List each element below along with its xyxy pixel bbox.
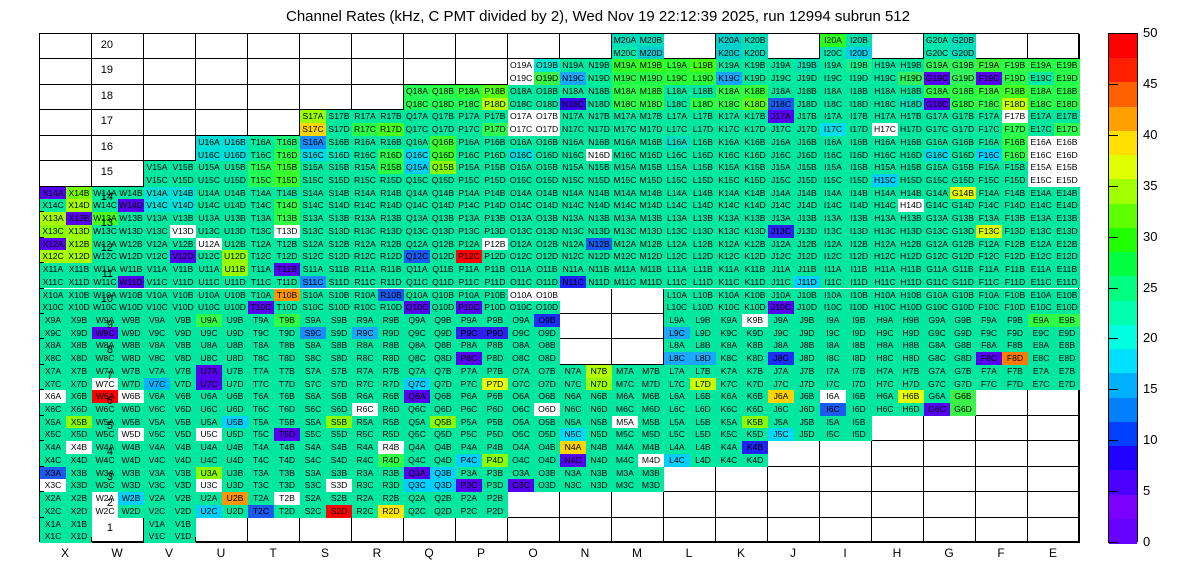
heatmap-quadrant: K12B	[742, 238, 768, 251]
heatmap-cell: E8AE8BE8CE8D	[1028, 339, 1080, 364]
heatmap-cell	[404, 518, 456, 543]
heatmap-quadrant: P18D	[482, 98, 508, 111]
heatmap-quadrant: Q9B	[430, 314, 456, 327]
heatmap-quadrant: S11D	[326, 276, 352, 289]
heatmap-quadrant: E19A	[1028, 59, 1054, 72]
heatmap-quadrant: E11B	[1054, 263, 1080, 276]
heatmap-quadrant: Q3C	[404, 479, 430, 492]
heatmap-quadrant: K17D	[742, 123, 768, 136]
heatmap-quadrant: I5A	[820, 416, 846, 429]
y-axis-tick	[39, 338, 44, 339]
heatmap-quadrant: M6C	[612, 403, 638, 416]
heatmap-quadrant: K18D	[742, 98, 768, 111]
heatmap-quadrant: K18A	[716, 85, 742, 98]
heatmap-cell	[1028, 518, 1080, 543]
heatmap-cell: X12AX12BX12CX12D	[40, 238, 92, 263]
heatmap-quadrant: I14C	[820, 199, 846, 212]
heatmap-quadrant: M20A	[612, 34, 638, 47]
x-axis-tick	[507, 537, 508, 542]
heatmap-quadrant: H8D	[898, 352, 924, 365]
heatmap-quadrant: I12A	[820, 238, 846, 251]
heatmap-quadrant: P8B	[482, 339, 508, 352]
x-axis-tick	[195, 537, 196, 542]
heatmap-quadrant: P13B	[482, 212, 508, 225]
heatmap-quadrant: O15A	[508, 161, 534, 174]
heatmap-quadrant: E11A	[1028, 263, 1054, 276]
colorbar-segment	[1109, 373, 1137, 398]
heatmap-quadrant: O12A	[508, 238, 534, 251]
heatmap-quadrant: M3C	[612, 479, 638, 492]
heatmap-quadrant: R10B	[378, 289, 404, 302]
heatmap-quadrant: I9C	[820, 327, 846, 340]
heatmap-cell: F19AF19BF19CF19D	[976, 59, 1028, 84]
heatmap-quadrant: U15B	[222, 161, 248, 174]
heatmap-quadrant: F19D	[1002, 72, 1028, 85]
heatmap-quadrant: R9B	[378, 314, 404, 327]
heatmap-quadrant: I9D	[846, 327, 872, 340]
heatmap-quadrant: K18C	[716, 98, 742, 111]
heatmap-quadrant: J17B	[794, 110, 820, 123]
heatmap-quadrant: N16A	[560, 136, 586, 149]
heatmap-quadrant: V5D	[170, 428, 196, 441]
heatmap-cell: L16AL16BL16CL16D	[664, 136, 716, 161]
heatmap-quadrant: S7C	[300, 378, 326, 391]
heatmap-quadrant: R8A	[352, 339, 378, 352]
heatmap-quadrant: M7C	[612, 378, 638, 391]
heatmap-cell: I12AI12BI12CI12D	[820, 238, 872, 263]
heatmap-quadrant: R14B	[378, 187, 404, 200]
heatmap-quadrant: J18D	[794, 98, 820, 111]
colorbar-tick	[1108, 186, 1118, 187]
heatmap-quadrant: V12C	[144, 250, 170, 263]
colorbar-segment	[1109, 252, 1137, 277]
heatmap-quadrant: I14A	[820, 187, 846, 200]
heatmap-quadrant: V15A	[144, 161, 170, 174]
heatmap-quadrant: Q18A	[404, 85, 430, 98]
heatmap-quadrant: K14C	[716, 199, 742, 212]
heatmap-quadrant: F12B	[1002, 238, 1028, 251]
heatmap-quadrant: E17D	[1054, 123, 1080, 136]
heatmap-quadrant: N12B	[586, 238, 612, 251]
heatmap-quadrant: O9A	[508, 314, 534, 327]
heatmap-quadrant: I19B	[846, 59, 872, 72]
heatmap-quadrant: S12C	[300, 250, 326, 263]
heatmap-quadrant: S5D	[326, 428, 352, 441]
x-axis-tick	[455, 537, 456, 542]
colorbar-segment	[1109, 34, 1137, 59]
heatmap-quadrant: I11A	[820, 263, 846, 276]
heatmap-quadrant: P6B	[482, 390, 508, 403]
heatmap-quadrant: E12B	[1054, 238, 1080, 251]
heatmap-cell: H6AH6BH6CH6D	[872, 390, 924, 415]
heatmap-quadrant: Q18B	[430, 85, 456, 98]
heatmap-quadrant: N17D	[586, 123, 612, 136]
heatmap-quadrant: O9D	[534, 327, 560, 340]
heatmap-quadrant: S8A	[300, 339, 326, 352]
heatmap-quadrant: L12A	[664, 238, 690, 251]
heatmap-quadrant: T12D	[274, 250, 300, 263]
heatmap-quadrant: R3C	[352, 479, 378, 492]
heatmap-cell	[612, 314, 664, 339]
heatmap-quadrant: E13C	[1028, 225, 1054, 238]
heatmap-quadrant: H13A	[872, 212, 898, 225]
heatmap-quadrant: Q5C	[404, 428, 430, 441]
heatmap-quadrant: S17C	[300, 123, 326, 136]
heatmap-quadrant: Q6C	[404, 403, 430, 416]
heatmap-quadrant: K8B	[742, 339, 768, 352]
heatmap-cell: N17AN17BN17CN17D	[560, 110, 612, 135]
heatmap-quadrant: T12B	[274, 238, 300, 251]
heatmap-cell: G11AG11BG11CG11D	[924, 263, 976, 288]
heatmap-quadrant: X7A	[40, 365, 66, 378]
heatmap-quadrant: J14A	[768, 187, 794, 200]
heatmap-quadrant: I7D	[846, 378, 872, 391]
heatmap-quadrant: Q18D	[430, 98, 456, 111]
heatmap-quadrant: N11D	[586, 276, 612, 289]
heatmap-cell: E19AE19BE19CE19D	[1028, 59, 1080, 84]
heatmap-quadrant: S12B	[326, 238, 352, 251]
heatmap-cell: K6AK6BK6CK6D	[716, 390, 768, 415]
heatmap-quadrant: P18A	[456, 85, 482, 98]
heatmap-quadrant: Q13D	[430, 225, 456, 238]
x-axis-tick	[91, 537, 92, 542]
heatmap-cell: J13AJ13BJ13CJ13D	[768, 212, 820, 237]
heatmap-quadrant: I6B	[846, 390, 872, 403]
heatmap-cell: T12AT12BT12CT12D	[248, 238, 300, 263]
heatmap-quadrant: Q11C	[404, 276, 430, 289]
heatmap-quadrant: V14B	[170, 187, 196, 200]
heatmap-quadrant: L13D	[690, 225, 716, 238]
heatmap-quadrant: H17D	[898, 123, 924, 136]
heatmap-quadrant: U8A	[196, 339, 222, 352]
heatmap-quadrant: I8C	[820, 352, 846, 365]
heatmap-quadrant: K9A	[716, 314, 742, 327]
colorbar-tick	[1108, 440, 1118, 441]
heatmap-quadrant: E14A	[1028, 187, 1054, 200]
heatmap-quadrant: Q8A	[404, 339, 430, 352]
heatmap-quadrant: N4C	[560, 454, 586, 467]
y-axis-label: 18	[87, 90, 113, 102]
heatmap-quadrant: N14D	[586, 199, 612, 212]
heatmap-cell: M7AM7BM7CM7D	[612, 365, 664, 390]
heatmap-quadrant: S3B	[326, 467, 352, 480]
heatmap-quadrant: O10A	[508, 289, 534, 302]
heatmap-quadrant: O8C	[508, 352, 534, 365]
heatmap-quadrant: M19B	[638, 59, 664, 72]
heatmap-cell	[820, 492, 872, 517]
heatmap-quadrant: E14C	[1028, 199, 1054, 212]
heatmap-cell: L10AL10BL10CL10D	[664, 289, 716, 314]
heatmap-quadrant: L5A	[664, 416, 690, 429]
heatmap-quadrant: V5A	[144, 416, 170, 429]
heatmap-quadrant: N17C	[560, 123, 586, 136]
heatmap-quadrant: Q17C	[404, 123, 430, 136]
heatmap-quadrant: H16B	[898, 136, 924, 149]
heatmap-quadrant: O3C	[508, 479, 534, 492]
heatmap-quadrant: N17A	[560, 110, 586, 123]
heatmap-cell: I20AI20BI20CI20D	[820, 34, 872, 59]
heatmap-quadrant: I19D	[846, 72, 872, 85]
heatmap-cell: I9AI9BI9CI9D	[820, 314, 872, 339]
heatmap-quadrant: J10C	[768, 301, 794, 314]
heatmap-quadrant: X5A	[40, 416, 66, 429]
heatmap-cell: K20AK20BK20CK20D	[716, 34, 768, 59]
heatmap-quadrant: P2B	[482, 492, 508, 505]
heatmap-quadrant: V12B	[170, 238, 196, 251]
heatmap-quadrant: R11A	[352, 263, 378, 276]
heatmap-cell: V13AV13BV13CV13D	[144, 212, 196, 237]
heatmap-quadrant: X3A	[40, 467, 66, 480]
heatmap-quadrant: V13C	[144, 225, 170, 238]
heatmap-cell	[924, 441, 976, 466]
heatmap-quadrant: T8C	[248, 352, 274, 365]
heatmap-quadrant: R13A	[352, 212, 378, 225]
heatmap-quadrant: L5C	[664, 428, 690, 441]
heatmap-quadrant: H14A	[872, 187, 898, 200]
heatmap-quadrant: T9D	[274, 327, 300, 340]
heatmap-quadrant: V12D	[170, 250, 196, 263]
y-axis-tick	[39, 109, 44, 110]
heatmap-quadrant: O8B	[534, 339, 560, 352]
heatmap-quadrant: S13C	[300, 225, 326, 238]
heatmap-quadrant: J15D	[794, 174, 820, 187]
heatmap-quadrant: V9D	[170, 327, 196, 340]
heatmap-quadrant: G9C	[924, 327, 950, 340]
heatmap-cell: L6AL6BL6CL6D	[664, 390, 716, 415]
y-axis-label: 20	[87, 39, 113, 51]
heatmap-quadrant: O4B	[534, 441, 560, 454]
heatmap-quadrant: I16B	[846, 136, 872, 149]
y-axis-label: 4	[87, 446, 113, 458]
heatmap-quadrant: Q14C	[404, 199, 430, 212]
heatmap-quadrant: R3B	[378, 467, 404, 480]
heatmap-quadrant: R8D	[378, 352, 404, 365]
heatmap-cell: F11AF11BF11CF11D	[976, 263, 1028, 288]
heatmap-quadrant: O5A	[508, 416, 534, 429]
heatmap-quadrant: G19B	[950, 59, 976, 72]
heatmap-quadrant: F18A	[976, 85, 1002, 98]
heatmap-quadrant: U13D	[222, 225, 248, 238]
heatmap-quadrant: N4D	[586, 454, 612, 467]
heatmap-quadrant: L11D	[690, 276, 716, 289]
heatmap-cell: P14AP14BP14CP14D	[456, 187, 508, 212]
heatmap-quadrant: G14C	[924, 199, 950, 212]
heatmap-cell	[716, 518, 768, 543]
heatmap-cell: V9AV9BV9CV9D	[144, 314, 196, 339]
heatmap-quadrant: L19C	[664, 72, 690, 85]
heatmap-quadrant: Q7D	[430, 378, 456, 391]
heatmap-cell: S13AS13BS13CS13D	[300, 212, 352, 237]
heatmap-quadrant: I6D	[846, 403, 872, 416]
heatmap-quadrant: O19D	[534, 72, 560, 85]
heatmap-quadrant: V2C	[144, 505, 170, 518]
heatmap-quadrant: Q7A	[404, 365, 430, 378]
heatmap-quadrant: N4B	[586, 441, 612, 454]
heatmap-cell: E18AE18BE18CE18D	[1028, 85, 1080, 110]
heatmap-quadrant: W12B	[118, 238, 144, 251]
heatmap-cell: X14AX14BX14CX14D	[40, 187, 92, 212]
heatmap-quadrant: K8A	[716, 339, 742, 352]
heatmap-cells: M20AM20BM20CM20DK20AK20BK20CK20DI20AI20B…	[40, 34, 1078, 541]
heatmap-quadrant: V6A	[144, 390, 170, 403]
heatmap-quadrant: L15A	[664, 161, 690, 174]
x-axis-label: U	[195, 546, 247, 560]
heatmap-cell: O19AO19BO19CO19D	[508, 59, 560, 84]
heatmap-cell	[352, 59, 404, 84]
heatmap-quadrant: G13D	[950, 225, 976, 238]
heatmap-quadrant: K17C	[716, 123, 742, 136]
heatmap-quadrant: G15C	[924, 174, 950, 187]
heatmap-quadrant: Q3D	[430, 479, 456, 492]
colorbar-segment	[1109, 349, 1137, 374]
heatmap-quadrant: R14A	[352, 187, 378, 200]
heatmap-quadrant: F7D	[1002, 378, 1028, 391]
heatmap-quadrant: S3C	[300, 479, 326, 492]
heatmap-quadrant: Q12B	[430, 238, 456, 251]
x-axis-label: L	[663, 546, 715, 560]
heatmap-cell	[40, 136, 92, 161]
heatmap-quadrant: I12D	[846, 250, 872, 263]
heatmap-quadrant: R16D	[378, 149, 404, 162]
heatmap-quadrant: S13D	[326, 225, 352, 238]
heatmap-quadrant: I18B	[846, 85, 872, 98]
heatmap-quadrant: F13C	[976, 225, 1002, 238]
heatmap-quadrant: H12C	[872, 250, 898, 263]
heatmap-quadrant: P14C	[456, 199, 482, 212]
heatmap-cell: M18AM18BM18CM18D	[612, 85, 664, 110]
heatmap-cell: R14AR14BR14CR14D	[352, 187, 404, 212]
heatmap-quadrant: J10B	[794, 289, 820, 302]
heatmap-quadrant: E18D	[1054, 98, 1080, 111]
heatmap-quadrant: R12D	[378, 250, 404, 263]
heatmap-quadrant: U10D	[222, 301, 248, 314]
heatmap-cell: K17AK17BK17CK17D	[716, 110, 768, 135]
heatmap-quadrant: R3D	[378, 479, 404, 492]
colorbar-tick	[1108, 389, 1118, 390]
heatmap-quadrant: N12A	[560, 238, 586, 251]
heatmap-quadrant: M17B	[638, 110, 664, 123]
heatmap-cell: N15AN15BN15CN15D	[560, 161, 612, 186]
heatmap-quadrant: N3B	[586, 467, 612, 480]
heatmap-quadrant: H14D	[898, 199, 924, 212]
heatmap-quadrant: O14B	[534, 187, 560, 200]
heatmap-quadrant: T14D	[274, 199, 300, 212]
heatmap-quadrant: M20B	[638, 34, 664, 47]
heatmap-quadrant: J18C	[768, 98, 794, 111]
heatmap-quadrant: S11C	[300, 276, 326, 289]
heatmap-quadrant: S3A	[300, 467, 326, 480]
heatmap-quadrant: I7B	[846, 365, 872, 378]
x-axis-label: V	[143, 546, 195, 560]
heatmap-quadrant: K11B	[742, 263, 768, 276]
x-axis-label: J	[767, 546, 819, 560]
heatmap-cell: X6AX6BX6CX6D	[40, 390, 92, 415]
heatmap-quadrant: E16C	[1028, 149, 1054, 162]
heatmap-cell: S5AS5BS5CS5D	[300, 416, 352, 441]
x-axis-tick	[1027, 537, 1028, 542]
heatmap-cell: N16AN16BN16CN16D	[560, 136, 612, 161]
heatmap-cell: R13AR13BR13CR13D	[352, 212, 404, 237]
heatmap-quadrant: M3D	[638, 479, 664, 492]
heatmap-quadrant: I17C	[820, 123, 846, 136]
heatmap-cell	[300, 85, 352, 110]
heatmap-quadrant: U4C	[196, 454, 222, 467]
heatmap-quadrant: F11A	[976, 263, 1002, 276]
heatmap-cell	[872, 518, 924, 543]
heatmap-cell: M11AM11BM11CM11D	[612, 263, 664, 288]
heatmap-quadrant: H6B	[898, 390, 924, 403]
heatmap-quadrant: R5C	[352, 428, 378, 441]
heatmap-quadrant: F13B	[1002, 212, 1028, 225]
y-axis-label: 2	[87, 497, 113, 509]
y-axis-tick	[39, 389, 44, 390]
heatmap-quadrant: H13D	[898, 225, 924, 238]
heatmap-cell: L13AL13BL13CL13D	[664, 212, 716, 237]
heatmap-quadrant: I12C	[820, 250, 846, 263]
heatmap-quadrant: E8C	[1028, 352, 1054, 365]
heatmap-quadrant: H9A	[872, 314, 898, 327]
heatmap-quadrant: O12C	[508, 250, 534, 263]
heatmap-quadrant: O9B	[534, 314, 560, 327]
heatmap-cell: X13AX13BX13CX13D	[40, 212, 92, 237]
heatmap-quadrant: P12B	[482, 238, 508, 251]
y-axis-label: 19	[87, 64, 113, 76]
heatmap-cell: G14AG14BG14CG14D	[924, 187, 976, 212]
heatmap-cell	[352, 85, 404, 110]
heatmap-cell: P16AP16BP16CP16D	[456, 136, 508, 161]
heatmap-quadrant: I18A	[820, 85, 846, 98]
heatmap-quadrant: F18B	[1002, 85, 1028, 98]
heatmap-quadrant: M4D	[638, 454, 664, 467]
y-axis-label: 14	[87, 191, 113, 203]
heatmap-cell: K8AK8BK8CK8D	[716, 339, 768, 364]
heatmap-cell: N18AN18BN18CN18D	[560, 85, 612, 110]
heatmap-quadrant: J17C	[768, 123, 794, 136]
heatmap-quadrant: R5B	[378, 416, 404, 429]
heatmap-quadrant: F7C	[976, 378, 1002, 391]
heatmap-cell: H18AH18BH18CH18D	[872, 85, 924, 110]
heatmap-quadrant: N7A	[560, 365, 586, 378]
heatmap-quadrant: J8A	[768, 339, 794, 352]
heatmap-quadrant: V7C	[144, 378, 170, 391]
heatmap-cell: M13AM13BM13CM13D	[612, 212, 664, 237]
heatmap-quadrant: U6C	[196, 403, 222, 416]
heatmap-cell: P15AP15BP15CP15D	[456, 161, 508, 186]
heatmap-quadrant: T4C	[248, 454, 274, 467]
heatmap-cell: T13AT13BT13CT13D	[248, 212, 300, 237]
heatmap-quadrant: T7B	[274, 365, 300, 378]
x-axis-tick	[39, 537, 40, 542]
heatmap-quadrant: V15B	[170, 161, 196, 174]
heatmap-quadrant: V2B	[170, 492, 196, 505]
heatmap-cell: U8AU8BU8CU8D	[196, 339, 248, 364]
heatmap-cell: R17AR17BR17CR17D	[352, 110, 404, 135]
heatmap-quadrant: K11C	[716, 276, 742, 289]
heatmap-cell: G8AG8BG8CG8D	[924, 339, 976, 364]
heatmap-quadrant: H10D	[898, 301, 924, 314]
colorbar-segment	[1109, 155, 1137, 180]
heatmap-quadrant: M18A	[612, 85, 638, 98]
heatmap-cell: R3AR3BR3CR3D	[352, 467, 404, 492]
heatmap-quadrant: F17D	[1002, 123, 1028, 136]
heatmap-quadrant: J14C	[768, 199, 794, 212]
heatmap-cell: M6AM6BM6CM6D	[612, 390, 664, 415]
heatmap-quadrant: P3B	[482, 467, 508, 480]
heatmap-quadrant: P15C	[456, 174, 482, 187]
heatmap-cell: R7AR7BR7CR7D	[352, 365, 404, 390]
heatmap-cell: L7AL7BL7CL7D	[664, 365, 716, 390]
heatmap-quadrant: E7D	[1054, 378, 1080, 391]
